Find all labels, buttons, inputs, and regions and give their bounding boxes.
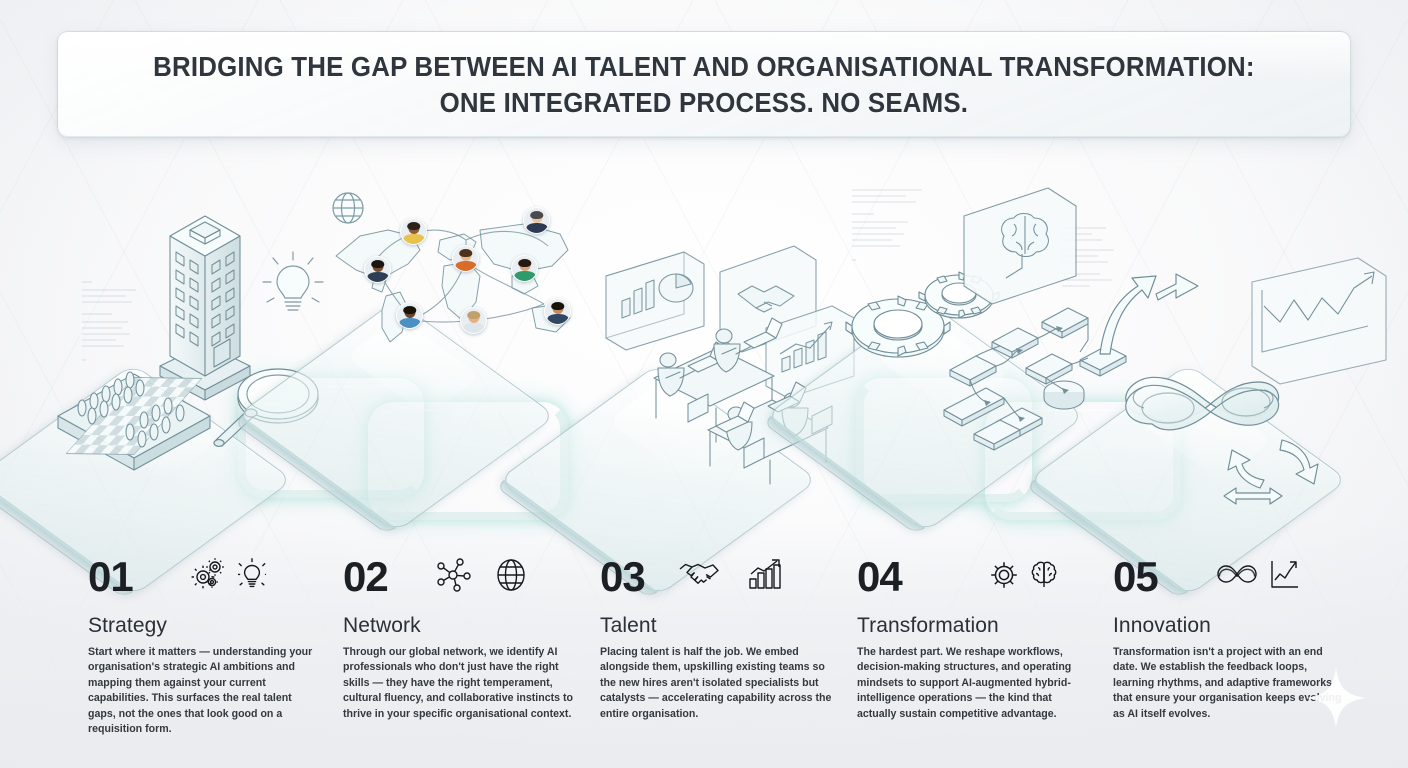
isometric-scene [0,150,1408,550]
avatar [523,207,550,234]
page-title: BRIDGING THE GAP BETWEEN AI TALENT AND O… [153,49,1255,119]
step-icon-group [678,558,782,590]
avatar [400,218,427,245]
globe-icon [495,558,527,592]
gear-icon [987,558,1021,592]
avatar [452,245,479,272]
step-icon-group [1213,558,1301,590]
line-chart-panel-illustration [1246,256,1396,402]
lightbulb-illustration [257,240,329,330]
step-header: 02 [343,556,583,618]
step-number: 03 [600,556,645,598]
step-transformation: 04 [857,556,1097,722]
step-description: Start where it matters — understanding y… [88,645,320,737]
infinity-icon [1213,559,1261,589]
step-network: 02 [343,556,583,722]
step-description: Through our global network, we identify … [343,645,575,722]
step-icon-group [987,558,1061,592]
step-talent: 03 [600,556,840,722]
gears-icon [190,558,226,590]
office-building-illustration [152,200,258,410]
handshake-panel-illustration [714,242,822,362]
bar-growth-icon [748,558,782,590]
avatar [544,298,571,325]
avatar [396,302,423,329]
title-glass-panel: BRIDGING THE GAP BETWEEN AI TALENT AND O… [57,31,1351,138]
step-icon-group [435,558,527,592]
annotation-text-brain-panel [1058,222,1154,322]
step-header: 05 [1113,556,1353,618]
step-number: 02 [343,556,388,598]
brain-icon [1027,558,1061,592]
globe-illustration [326,186,370,230]
step-number: 01 [88,556,133,598]
handshake-icon [678,559,722,589]
arrows-illustration [1086,260,1236,370]
avatar [364,256,391,283]
avatar [511,255,538,282]
process-steps: 01 [0,556,1408,768]
annotation-text-transformation [848,184,958,294]
step-description: The hardest part. We reshape workflows, … [857,645,1089,722]
infographic-canvas: BRIDGING THE GAP BETWEEN AI TALENT AND O… [0,0,1408,768]
step-header: 03 [600,556,840,618]
step-icon-group [190,558,266,590]
lightbulb-icon [238,558,266,590]
brain-panel-illustration [956,184,1086,314]
step-description: Transformation isn't a project with an e… [1113,645,1345,722]
step-description: Placing talent is half the job. We embed… [600,645,832,722]
step-innovation: 05 [1113,556,1353,722]
chart-panel-illustration [600,250,710,358]
step-strategy: 01 [88,556,328,737]
step-number: 04 [857,556,902,598]
avatar [460,307,487,334]
step-header: 01 [88,556,328,618]
step-number: 05 [1113,556,1158,598]
step-header: 04 [857,556,1097,618]
line-chart-icon [1269,558,1301,590]
network-nodes-icon [435,558,471,592]
